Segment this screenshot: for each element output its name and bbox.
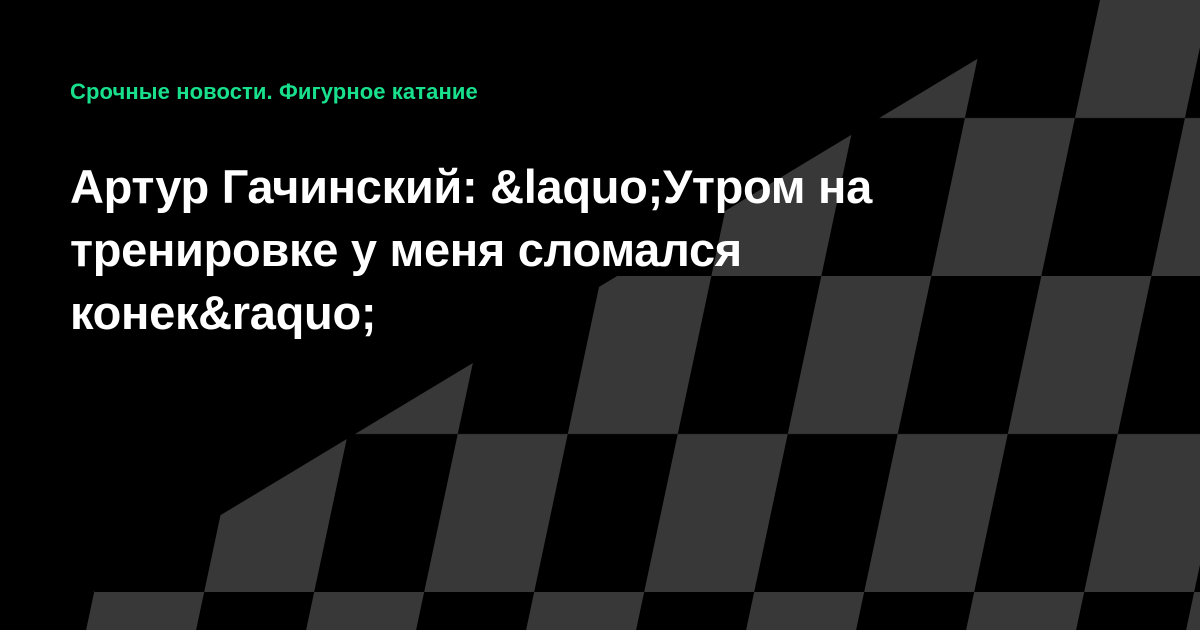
kicker-label: Срочные новости. Фигурное катание	[70, 78, 478, 106]
card-content: Срочные новости. Фигурное катание Артур …	[0, 0, 1200, 630]
page-title: Артур Гачинский: &laquo;Утром на трениро…	[70, 155, 950, 344]
social-share-card: Срочные новости. Фигурное катание Артур …	[0, 0, 1200, 630]
